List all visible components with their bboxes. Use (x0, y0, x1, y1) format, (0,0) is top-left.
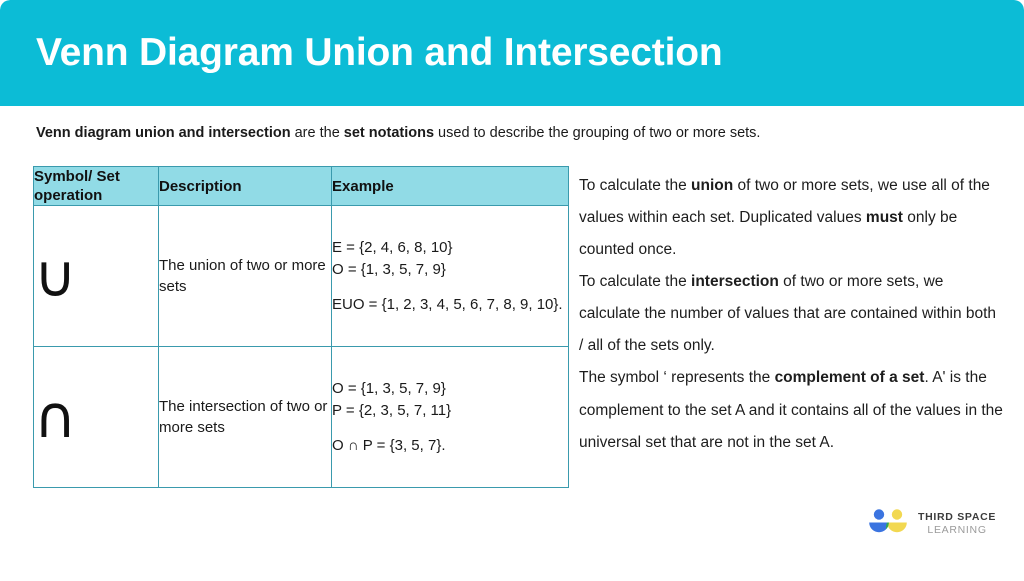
intro-bold-lead: Venn diagram union and intersection (36, 125, 291, 141)
p1-bold-union: union (691, 177, 733, 194)
union-example-line-1: E = {2, 4, 6, 8, 10} (332, 237, 568, 259)
third-space-learning-logo-icon (866, 508, 912, 538)
explanation-paragraph-complement: The symbol ‘ represents the complement o… (579, 362, 1004, 458)
intersection-example: O = {1, 3, 5, 7, 9} P = {2, 3, 5, 7, 11}… (332, 347, 569, 488)
intersection-description: The intersection of two or more sets (159, 347, 332, 488)
explanation-column: To calculate the union of two or more se… (579, 170, 1004, 459)
p3-text-a: The symbol ‘ represents the (579, 369, 775, 386)
logo-line-third-space: THIRD SPACE (918, 511, 996, 524)
union-example-line-2: O = {1, 3, 5, 7, 9} (332, 259, 568, 281)
intersection-example-result: O ∩ P = {3, 5, 7}. (332, 435, 568, 457)
intro-paragraph: Venn diagram union and intersection are … (36, 123, 986, 143)
column-header-symbol: Symbol/ Set operation (34, 167, 159, 206)
intro-text-1: are the (291, 125, 344, 141)
table-head: Symbol/ Set operation Description Exampl… (34, 167, 569, 206)
p2-bold-intersection: intersection (691, 273, 779, 290)
spacer (332, 281, 568, 294)
intersection-example-line-2: P = {2, 3, 5, 7, 11} (332, 400, 568, 422)
table-row: ∩ The intersection of two or more sets O… (34, 347, 569, 488)
table-row: ∪ The union of two or more sets E = {2, … (34, 206, 569, 347)
p1-bold-must: must (866, 209, 903, 226)
explanation-paragraph-intersection: To calculate the intersection of two or … (579, 266, 1004, 362)
notation-table-wrapper: Symbol/ Set operation Description Exampl… (33, 166, 565, 488)
p2-text-a: To calculate the (579, 273, 691, 290)
union-symbol: ∪ (34, 206, 159, 347)
intersection-symbol: ∩ (34, 347, 159, 488)
spacer (332, 422, 568, 435)
p3-bold-complement: complement of a set (775, 369, 925, 386)
intro-bold-set-notations: set notations (344, 125, 434, 141)
page-title: Venn Diagram Union and Intersection (0, 32, 722, 75)
table-header-row: Symbol/ Set operation Description Exampl… (34, 167, 569, 206)
p1-text-a: To calculate the (579, 177, 691, 194)
notation-table: Symbol/ Set operation Description Exampl… (33, 166, 569, 488)
column-header-description: Description (159, 167, 332, 206)
page-root: Venn Diagram Union and Intersection Venn… (0, 0, 1024, 581)
brand-logo: THIRD SPACE LEARNING (866, 508, 1006, 542)
explanation-paragraph-union: To calculate the union of two or more se… (579, 170, 1004, 266)
union-example: E = {2, 4, 6, 8, 10} O = {1, 3, 5, 7, 9}… (332, 206, 569, 347)
table-body: ∪ The union of two or more sets E = {2, … (34, 206, 569, 488)
union-description: The union of two or more sets (159, 206, 332, 347)
union-example-result: EUO = {1, 2, 3, 4, 5, 6, 7, 8, 9, 10}. (332, 294, 568, 316)
logo-line-learning: LEARNING (918, 524, 996, 537)
logo-wordmark: THIRD SPACE LEARNING (918, 511, 996, 537)
intersection-example-line-1: O = {1, 3, 5, 7, 9} (332, 378, 568, 400)
page-header: Venn Diagram Union and Intersection (0, 0, 1024, 106)
column-header-example: Example (332, 167, 569, 206)
intro-text-2: used to describe the grouping of two or … (434, 125, 760, 141)
